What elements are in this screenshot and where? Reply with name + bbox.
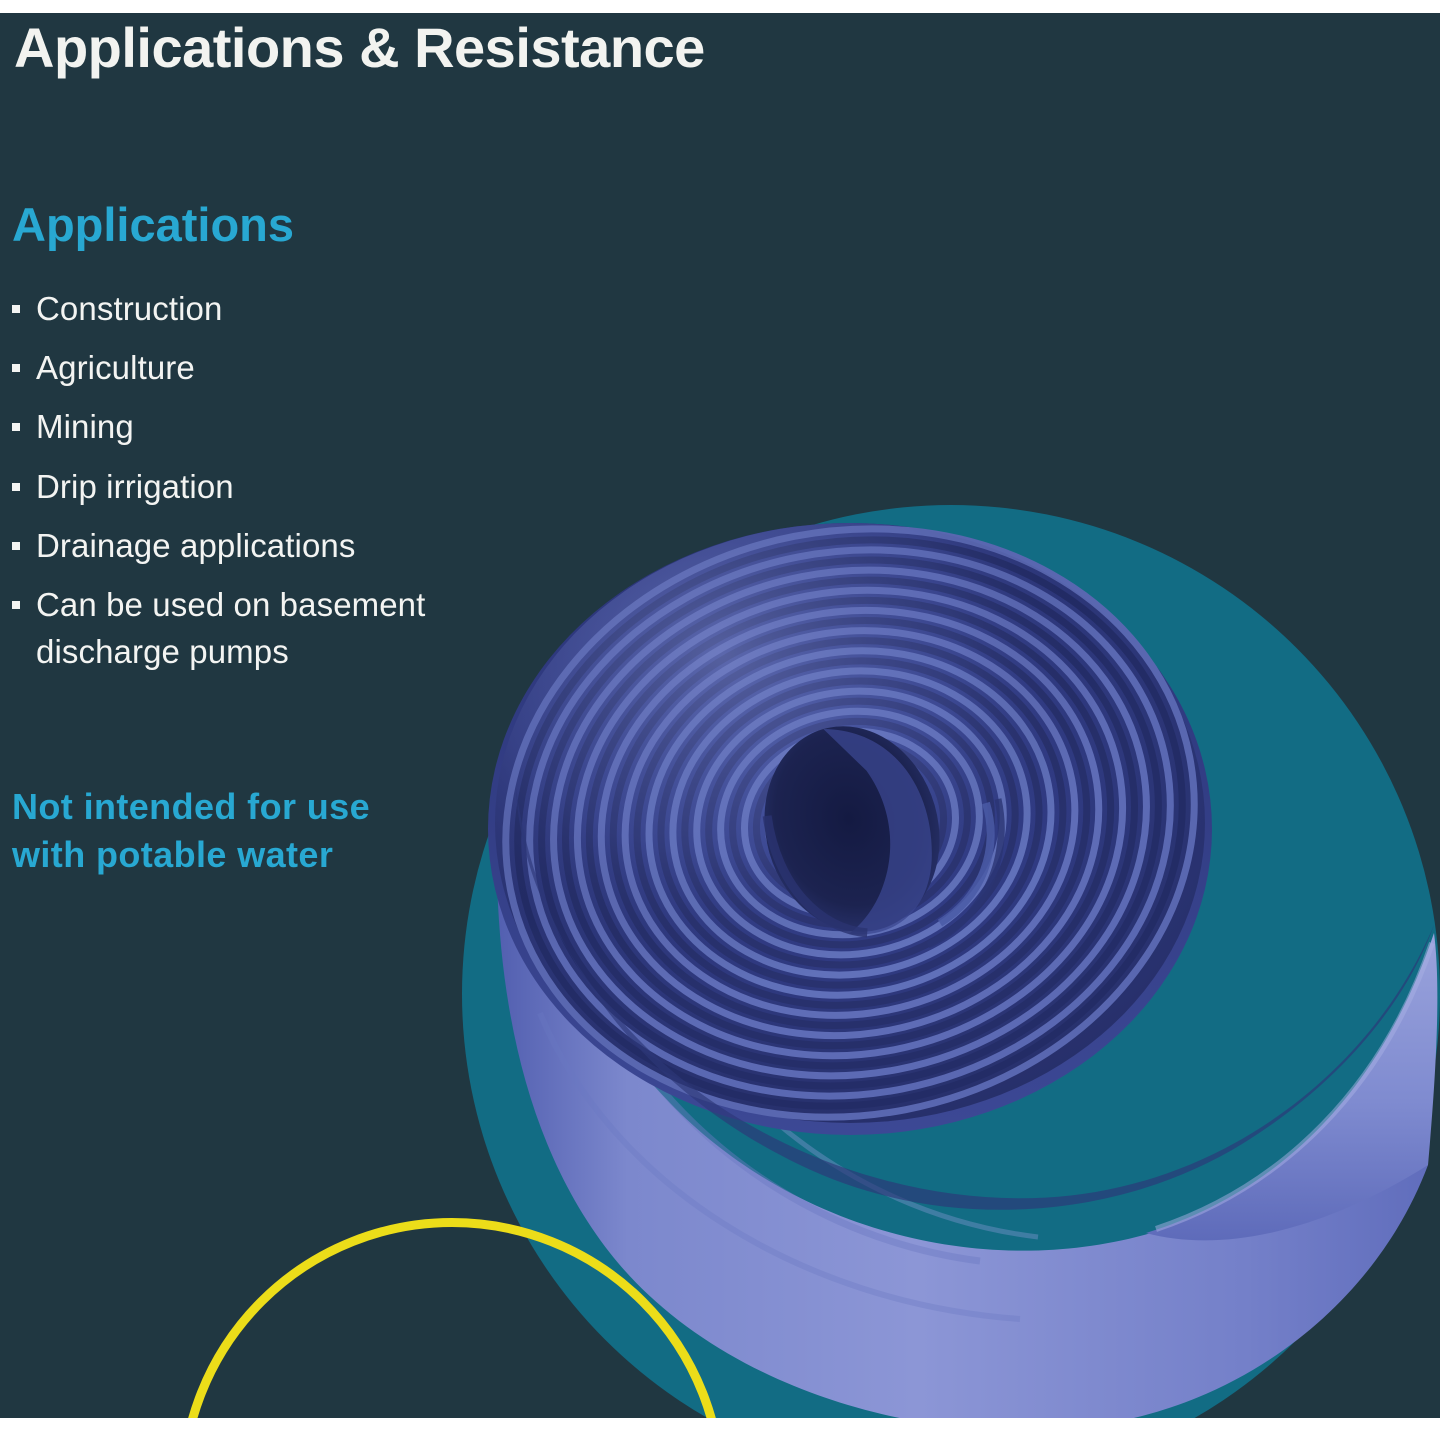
list-item: Drip irrigation [6, 463, 546, 510]
list-item: Drainage applications [6, 522, 546, 569]
page-title: Applications & Resistance [14, 19, 705, 78]
slide-canvas: Applications & Resistance Applications C… [0, 0, 1440, 1440]
potable-water-notice: Not intended for use with potable water [12, 783, 492, 879]
applications-list: Construction Agriculture Mining Drip irr… [6, 285, 546, 687]
dark-panel: Applications & Resistance Applications C… [0, 13, 1440, 1418]
list-item: Can be used on basement discharge pumps [6, 581, 546, 675]
applications-heading: Applications [12, 201, 294, 248]
list-item: Construction [6, 285, 546, 332]
list-item: Mining [6, 403, 546, 450]
list-item: Agriculture [6, 344, 546, 391]
